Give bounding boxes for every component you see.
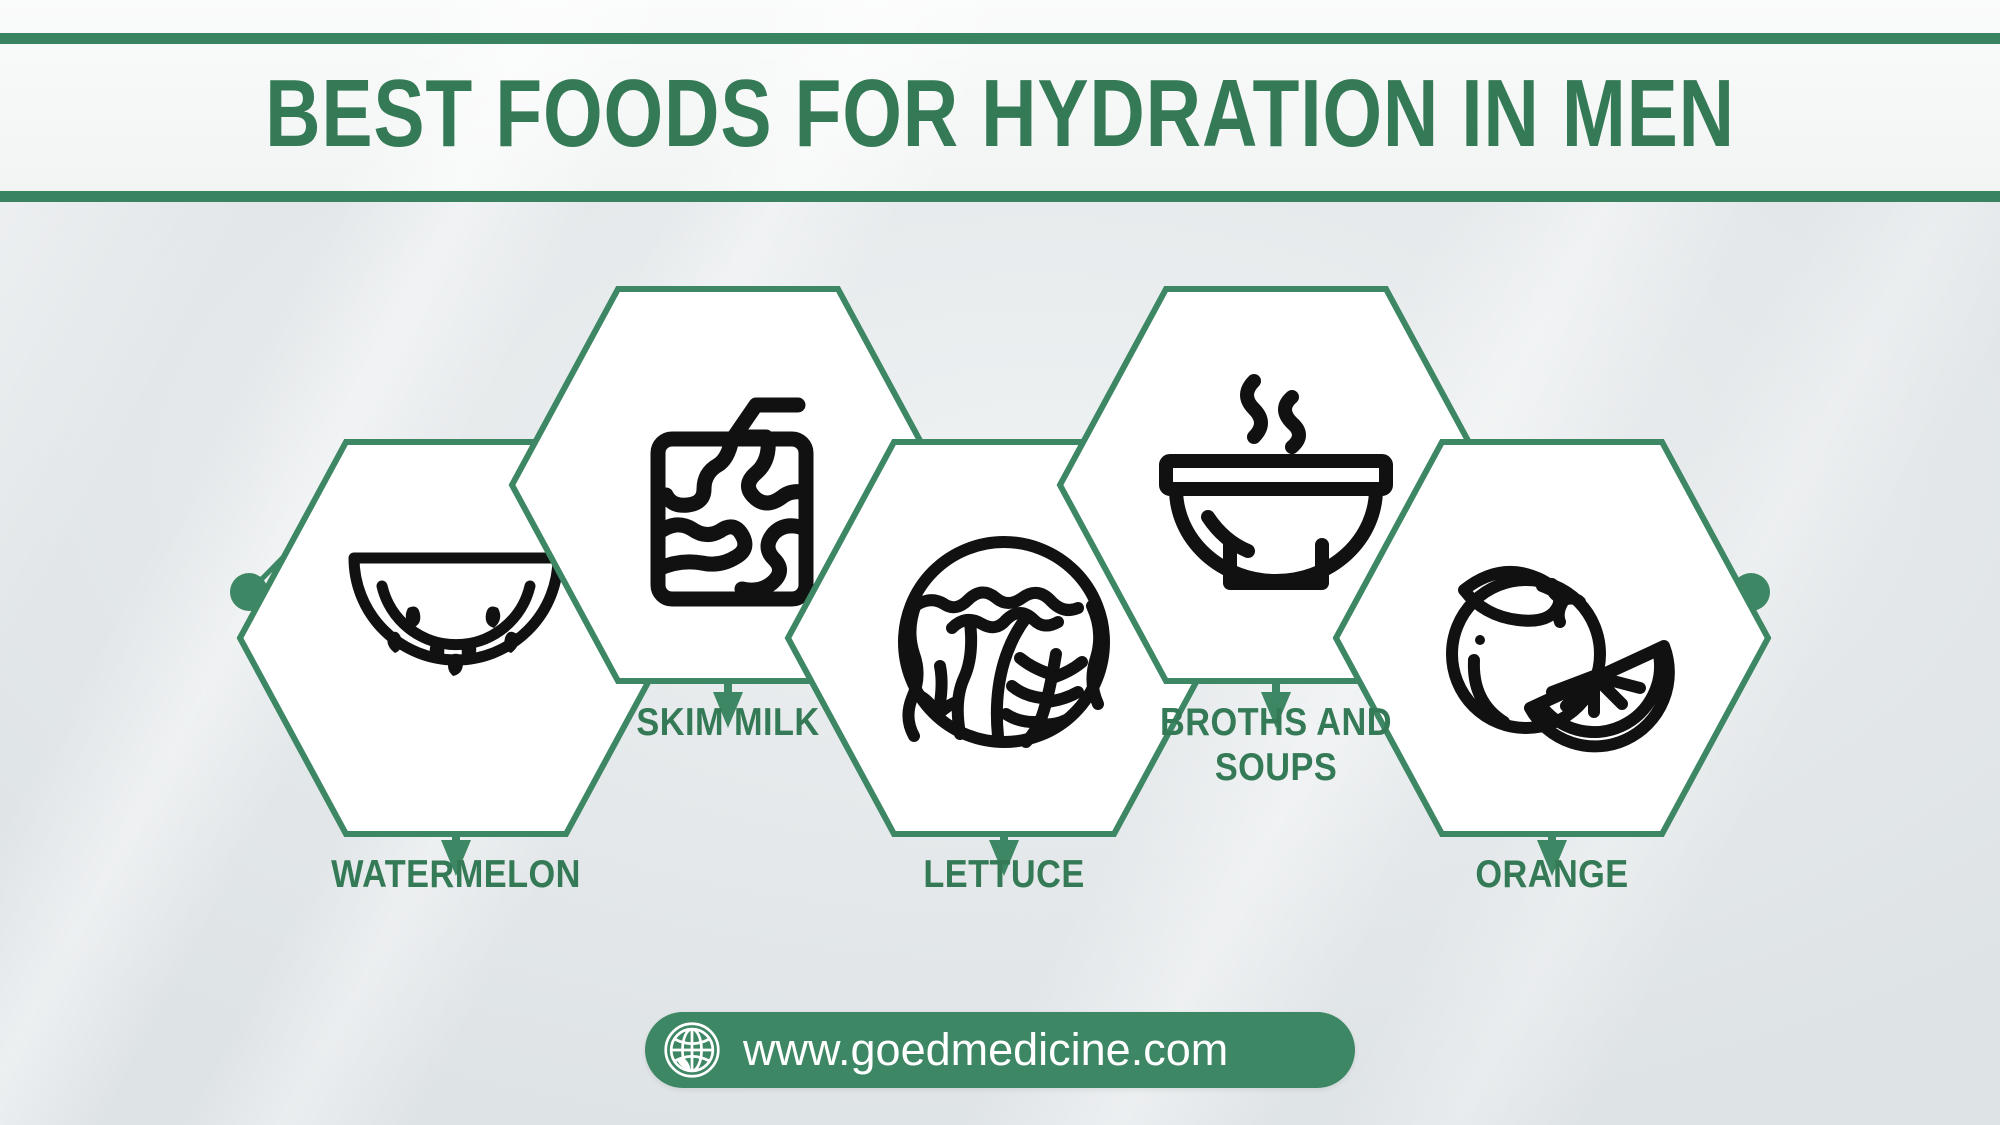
header-rule-top bbox=[0, 33, 2000, 44]
item-label-broths-and-soups: BROTHS AND SOUPS bbox=[1100, 700, 1452, 790]
item-label-orange: ORANGE bbox=[1376, 852, 1728, 897]
header-band: BEST FOODS FOR HYDRATION IN MEN bbox=[0, 0, 2000, 202]
item-label-skim-milk: SKIM MILK bbox=[552, 700, 904, 745]
item-label-lettuce: LETTUCE bbox=[828, 852, 1180, 897]
footer-url-text: www.goedmedicine.com bbox=[743, 1025, 1228, 1075]
footer-url-pill[interactable]: www.goedmedicine.com bbox=[645, 1012, 1355, 1088]
page-title: BEST FOODS FOR HYDRATION IN MEN bbox=[200, 52, 1800, 176]
header-rule-bottom bbox=[0, 191, 2000, 202]
globe-icon bbox=[663, 1021, 721, 1079]
item-label-watermelon: WATERMELON bbox=[280, 852, 632, 897]
infographic-poster: BEST FOODS FOR HYDRATION IN MEN bbox=[0, 0, 2000, 1125]
